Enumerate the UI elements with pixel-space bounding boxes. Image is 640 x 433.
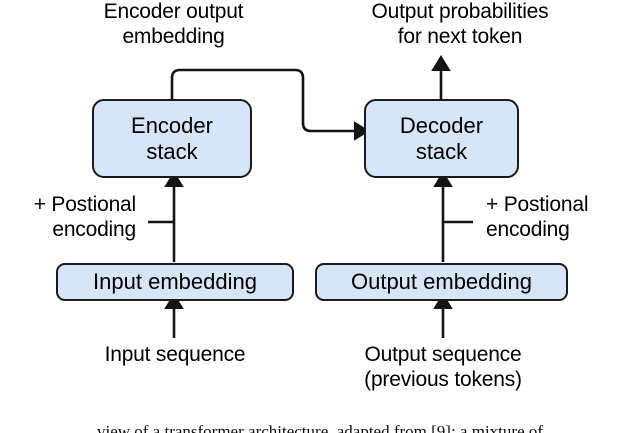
encoder-stack-node[interactable]: Encoder stack [92, 99, 252, 178]
encoder-output-embedding-label: Encoder output embedding [57, 0, 290, 49]
figure-caption-truncated: view of a transformer architecture, adap… [0, 422, 640, 433]
decoder-stack-node[interactable]: Decoder stack [364, 99, 519, 178]
positional-encoding-left-label: + Postional encoding [0, 192, 136, 242]
input-sequence-label: Input sequence [56, 342, 294, 367]
input-embedding-node[interactable]: Input embedding [56, 263, 294, 301]
output-embedding-node[interactable]: Output embedding [315, 263, 568, 301]
output-probabilities-label: Output probabilities for next token [330, 0, 590, 49]
positional-encoding-right-label: + Postional encoding [486, 192, 640, 242]
diagram-canvas: Encoder output embedding Output probabil… [0, 0, 640, 433]
output-sequence-label: Output sequence (previous tokens) [318, 342, 568, 392]
